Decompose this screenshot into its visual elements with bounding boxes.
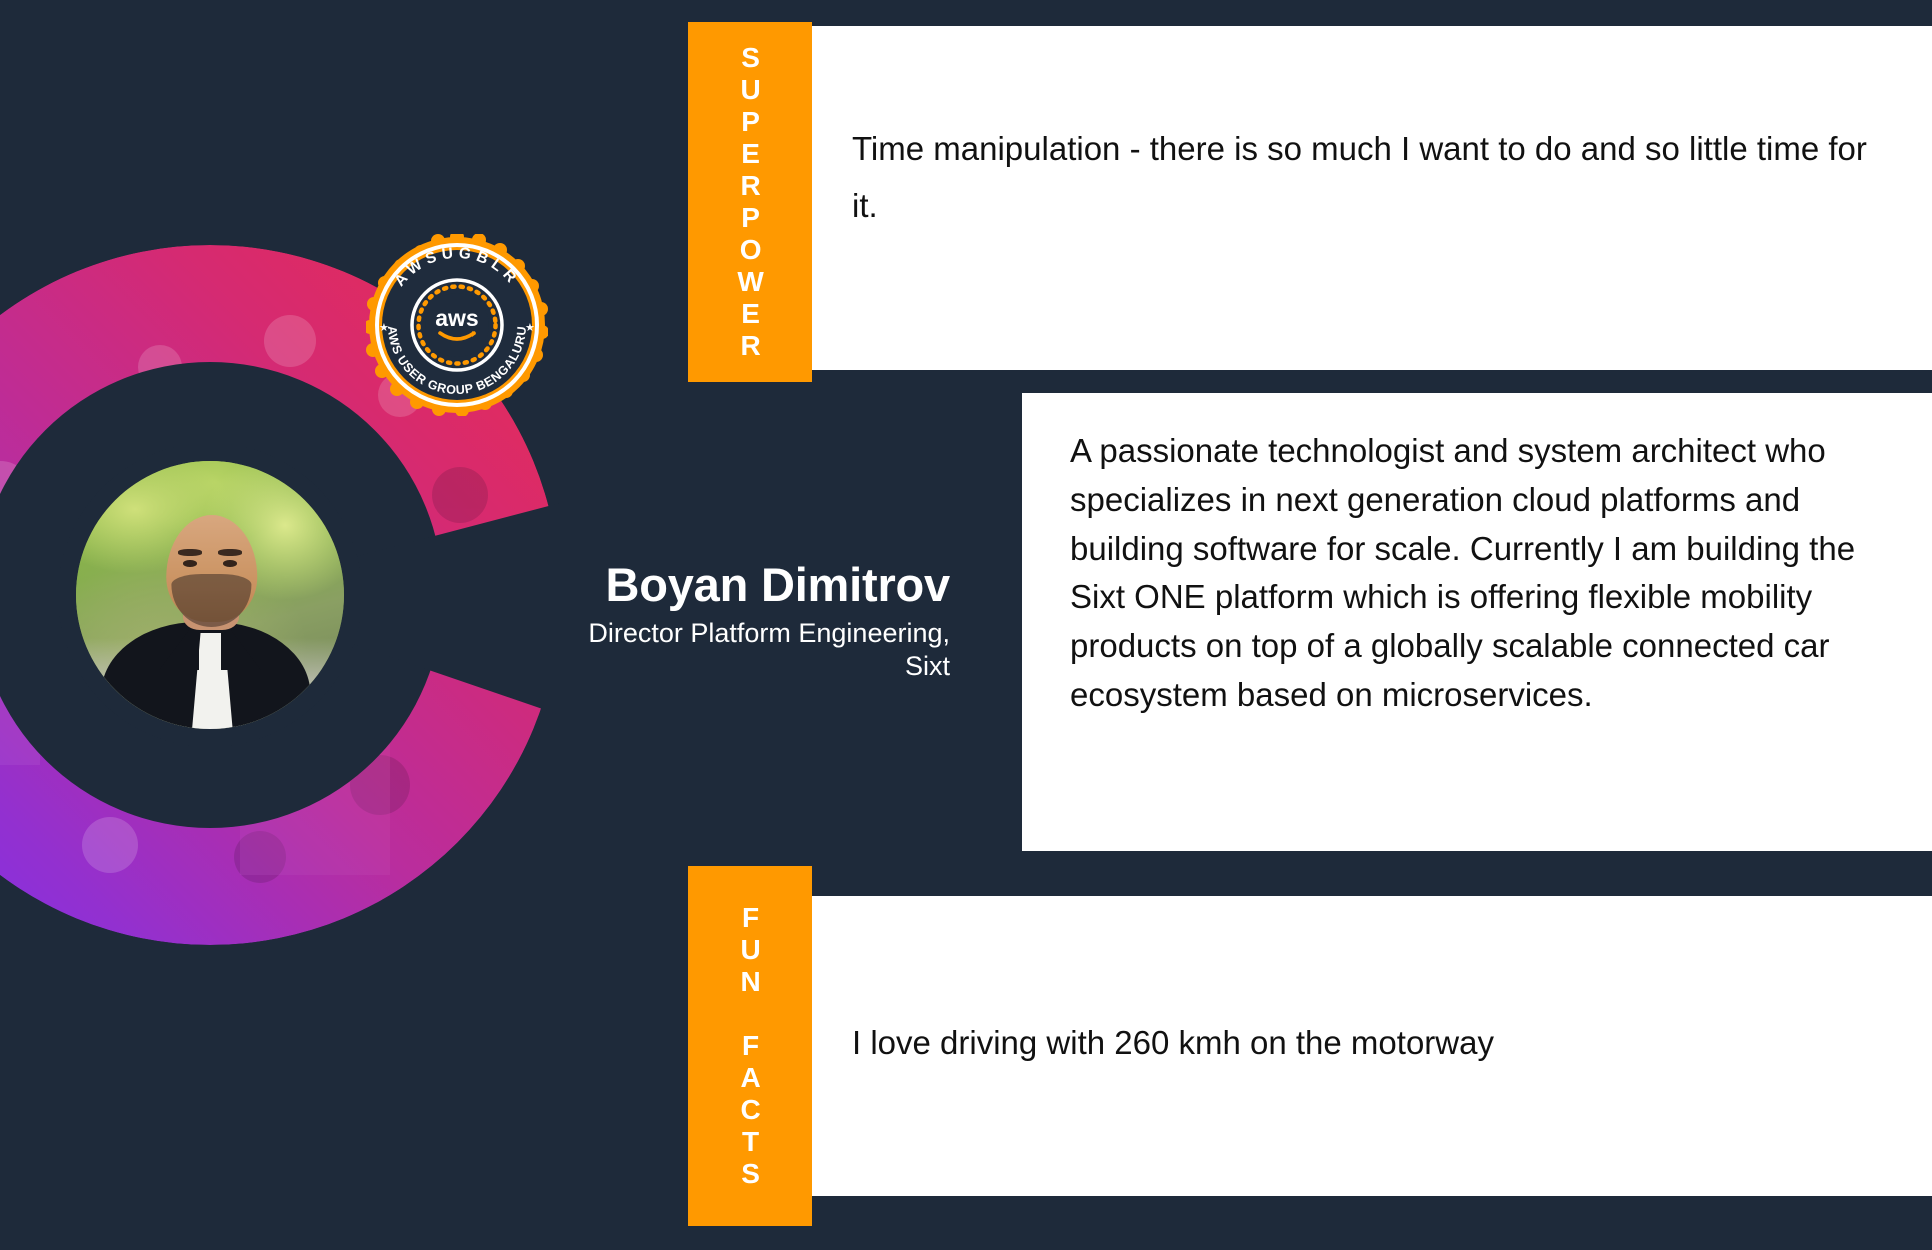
photo-figure-brow-right (218, 549, 242, 556)
speaker-title-line1: Director Platform Engineering, (160, 617, 950, 650)
superpower-label-bar: SUPERPOWER (688, 22, 812, 382)
superpower-label-text: SUPERPOWER (733, 42, 767, 362)
photo-figure-brow-left (178, 549, 202, 556)
funfacts-label-bar: FUN FACTS (688, 866, 812, 1226)
funfacts-panel: I love driving with 260 kmh on the motor… (812, 896, 1932, 1196)
funfacts-label-text: FUN FACTS (733, 902, 767, 1190)
bio-panel: A passionate technologist and system arc… (1022, 393, 1932, 851)
speaker-name: Boyan Dimitrov (160, 560, 950, 611)
bio-body-text: A passionate technologist and system arc… (1070, 427, 1900, 720)
speaker-title-line2: Sixt (160, 650, 950, 683)
badge-star-left-icon: ★ (379, 322, 389, 334)
funfacts-body-text: I love driving with 260 kmh on the motor… (852, 1018, 1892, 1068)
speaker-card: AWSUGBLR AWS USER GROUP BENGALURU ★ ★ aw… (0, 0, 1932, 1250)
badge-star-right-icon: ★ (525, 322, 535, 334)
superpower-panel: Time manipulation - there is so much I w… (812, 26, 1932, 370)
superpower-body-text: Time manipulation - there is so much I w… (852, 121, 1892, 235)
aws-user-group-badge-icon: AWSUGBLR AWS USER GROUP BENGALURU ★ ★ aw… (366, 234, 548, 416)
aws-wordmark-text: aws (435, 305, 478, 331)
speaker-title: Director Platform Engineering, Sixt (160, 617, 950, 683)
speaker-name-block: Boyan Dimitrov Director Platform Enginee… (160, 560, 950, 683)
